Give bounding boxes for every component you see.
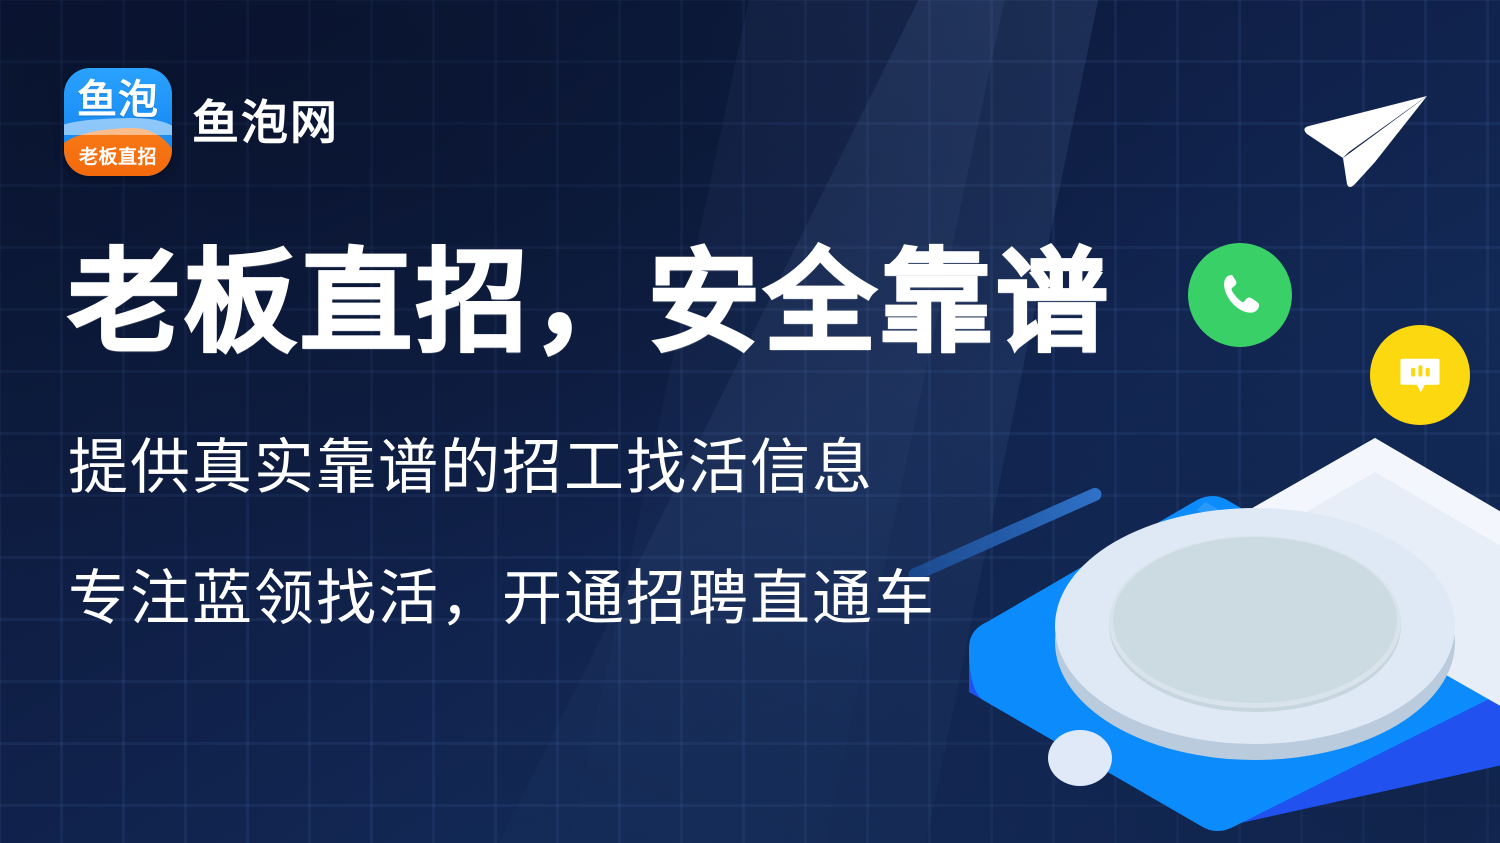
brand-name: 鱼泡网 <box>192 99 339 146</box>
phone-call-badge <box>1188 243 1292 347</box>
phone-call-icon <box>1211 266 1269 324</box>
copy-block: 老板直招，安全靠谱 提供真实靠谱的招工找活信息 专注蓝领找活，开通招聘直通车 <box>68 246 1112 629</box>
logo-top-label: 鱼泡 <box>64 79 172 121</box>
subtitle-line-2: 专注蓝领找活，开通招聘直通车 <box>68 569 1112 629</box>
brand-row: 鱼泡 老板直招 鱼泡网 <box>64 68 339 176</box>
yupao-app-logo-icon: 鱼泡 老板直招 <box>64 68 172 176</box>
subtitle-line-1: 提供真实靠谱的招工找活信息 <box>68 438 1112 498</box>
logo-bottom-label: 老板直招 <box>64 147 172 169</box>
promo-banner: 鱼泡 老板直招 鱼泡网 老板直招，安全靠谱 提供真实靠谱的招工找活信息 专注蓝领… <box>0 0 1500 843</box>
page-title: 老板直招，安全靠谱 <box>68 246 1112 360</box>
chat-bubble-icon <box>1394 349 1446 401</box>
paper-plane-icon <box>1291 78 1431 188</box>
chat-bubble-badge <box>1370 325 1470 425</box>
